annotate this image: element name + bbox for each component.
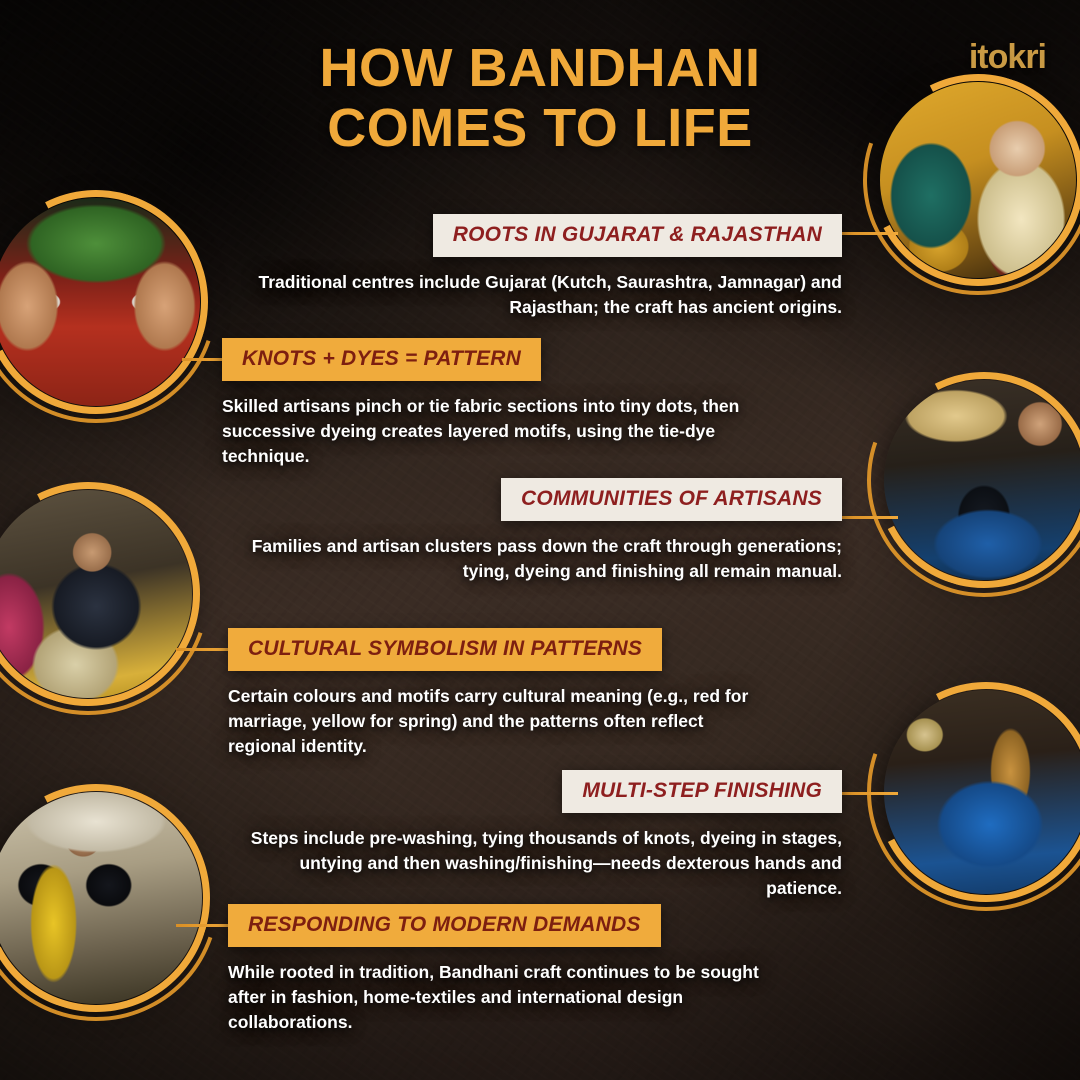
section-roots: ROOTS IN GUJARAT & RAJASTHAN Traditional… bbox=[240, 214, 842, 320]
logo-text-before: it bbox=[969, 38, 988, 76]
section-communities: COMMUNITIES OF ARTISANS Families and art… bbox=[240, 478, 842, 584]
connector-line-symbolism bbox=[176, 648, 232, 651]
section-body-symbolism: Certain colours and motifs carry cultura… bbox=[228, 684, 776, 759]
photo-inner bbox=[0, 198, 200, 406]
logo-text-after: kri bbox=[1007, 38, 1046, 76]
section-label-finishing: MULTI-STEP FINISHING bbox=[562, 770, 842, 813]
section-label-symbolism: CULTURAL SYMBOLISM IN PATTERNS bbox=[228, 628, 662, 671]
section-body-finishing: Steps include pre-washing, tying thousan… bbox=[240, 826, 842, 901]
section-body-modern-demands: While rooted in tradition, Bandhani craf… bbox=[228, 960, 788, 1035]
logo-o-mark: o bbox=[988, 38, 1008, 77]
section-body-roots: Traditional centres include Gujarat (Kut… bbox=[240, 270, 842, 320]
section-modern-demands: RESPONDING TO MODERN DEMANDS While roote… bbox=[228, 904, 788, 1035]
section-symbolism: CULTURAL SYMBOLISM IN PATTERNS Certain c… bbox=[228, 628, 776, 759]
photo-dyer-blue-vat bbox=[884, 380, 1080, 580]
section-body-knots-dyes: Skilled artisans pinch or tie fabric sec… bbox=[222, 394, 762, 469]
photo-inner bbox=[884, 380, 1080, 580]
section-label-modern-demands: RESPONDING TO MODERN DEMANDS bbox=[228, 904, 661, 947]
page-title: HOW BANDHANI COMES TO LIFE bbox=[0, 38, 1080, 159]
page-title-line-1: HOW BANDHANI bbox=[0, 38, 1080, 98]
brand-logo-itokri[interactable]: itokri bbox=[969, 38, 1046, 77]
photo-hands-tying-red-cloth bbox=[0, 198, 200, 406]
connector-line-roots bbox=[838, 232, 898, 235]
section-body-communities: Families and artisan clusters pass down … bbox=[240, 534, 842, 584]
infographic-poster: HOW BANDHANI COMES TO LIFE itokri ROOTS … bbox=[0, 0, 1080, 1080]
section-label-roots: ROOTS IN GUJARAT & RAJASTHAN bbox=[433, 214, 842, 257]
photo-dyer-yellow-cloth bbox=[0, 792, 202, 1004]
connector-line-communities bbox=[840, 516, 898, 519]
photo-inner bbox=[0, 490, 192, 698]
photo-artisan-tying-seated bbox=[0, 490, 192, 698]
section-label-knots-dyes: KNOTS + DYES = PATTERN bbox=[222, 338, 541, 381]
section-label-communities: COMMUNITIES OF ARTISANS bbox=[501, 478, 842, 521]
connector-line-finishing bbox=[840, 792, 898, 795]
photo-inner bbox=[884, 690, 1080, 894]
section-knots-dyes: KNOTS + DYES = PATTERN Skilled artisans … bbox=[222, 338, 762, 469]
section-finishing: MULTI-STEP FINISHING Steps include pre-w… bbox=[240, 770, 842, 901]
page-title-line-2: COMES TO LIFE bbox=[0, 98, 1080, 158]
photo-indigo-vat-dipping bbox=[884, 690, 1080, 894]
connector-line-modern bbox=[176, 924, 232, 927]
photo-inner bbox=[0, 792, 202, 1004]
logo-text-mid: o bbox=[988, 38, 1008, 76]
